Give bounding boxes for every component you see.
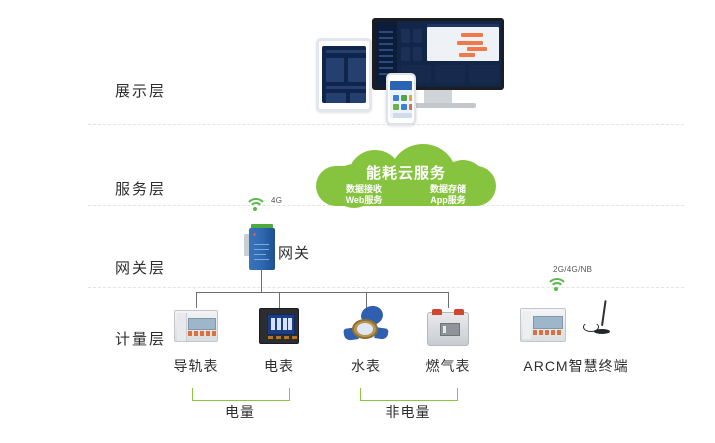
layer-label-metering: 计量层 [115, 328, 166, 349]
meter-label-water: 水表 [336, 356, 396, 376]
gateway-bus-line [196, 292, 449, 293]
phone-app-header [390, 81, 412, 90]
monitor-stat-card [413, 47, 422, 61]
gateway-led [253, 233, 256, 236]
architecture-diagram: 展示层 服务层 网关层 计量层 [0, 0, 715, 443]
din-rail-meter-icon [174, 310, 218, 342]
tablet-screen [322, 46, 366, 103]
cloud-service-item: 数据接收 [330, 184, 398, 195]
cloud-service-item: 数据存储 [414, 184, 482, 195]
tablet-icon [316, 38, 372, 112]
wifi-icon-gateway [245, 196, 267, 212]
monitor-list-panel [469, 65, 499, 83]
arcm-terminal-icon [520, 308, 566, 342]
drop-line-electricity [279, 292, 280, 308]
monitor-gauge-panel [435, 65, 465, 83]
group-label-non-electric: 非电量 [360, 402, 456, 422]
terminal-uplink-tag: 2G/4G/NB [553, 265, 592, 274]
electricity-meter-icon [259, 308, 299, 344]
water-meter-icon [344, 306, 388, 344]
monitor-stat-card [401, 47, 410, 61]
layer-label-service: 服务层 [115, 178, 166, 199]
smartphone-icon [386, 73, 416, 125]
cloud-service-item: App服务 [414, 195, 482, 206]
monitor-stand-neck [424, 90, 452, 104]
gateway-trunk-line [261, 270, 262, 292]
group-label-electric: 电量 [192, 402, 288, 422]
cloud-service-column: 数据接收 Web服务 [330, 184, 398, 206]
cloud-service-item: Web服务 [330, 195, 398, 206]
gas-meter-icon [427, 312, 469, 346]
cloud-service-node: 能耗云服务 数据接收 Web服务 数据存储 App服务 [316, 148, 496, 206]
group-bracket-electric [192, 388, 290, 401]
cloud-title: 能耗云服务 [316, 162, 496, 183]
group-bracket-non-electric [360, 388, 458, 401]
separator-presentation [88, 124, 684, 125]
gateway-uplink-tag: 4G [271, 196, 282, 205]
antenna-icon [583, 300, 607, 334]
gateway-label: 网关 [278, 242, 310, 263]
cloud-service-column: 数据存储 App服务 [414, 184, 482, 206]
meter-label-electricity: 电表 [249, 356, 309, 376]
monitor-stat-card [401, 29, 410, 43]
monitor-map-panel [427, 27, 499, 61]
meter-label-din-rail: 导轨表 [166, 356, 226, 376]
layer-label-presentation: 展示层 [115, 80, 166, 101]
drop-line-gas [448, 292, 449, 308]
phone-screen [390, 81, 412, 118]
monitor-stat-card [413, 29, 422, 43]
layer-label-gateway: 网关层 [115, 257, 166, 278]
terminal-label: ARCM智慧终端 [516, 356, 636, 376]
wifi-icon-terminal [546, 276, 568, 292]
drop-line-din [196, 292, 197, 308]
cloud-service-list: 数据接收 Web服务 数据存储 App服务 [330, 184, 482, 206]
separator-gateway [88, 287, 684, 288]
meter-label-gas: 燃气表 [418, 356, 478, 376]
